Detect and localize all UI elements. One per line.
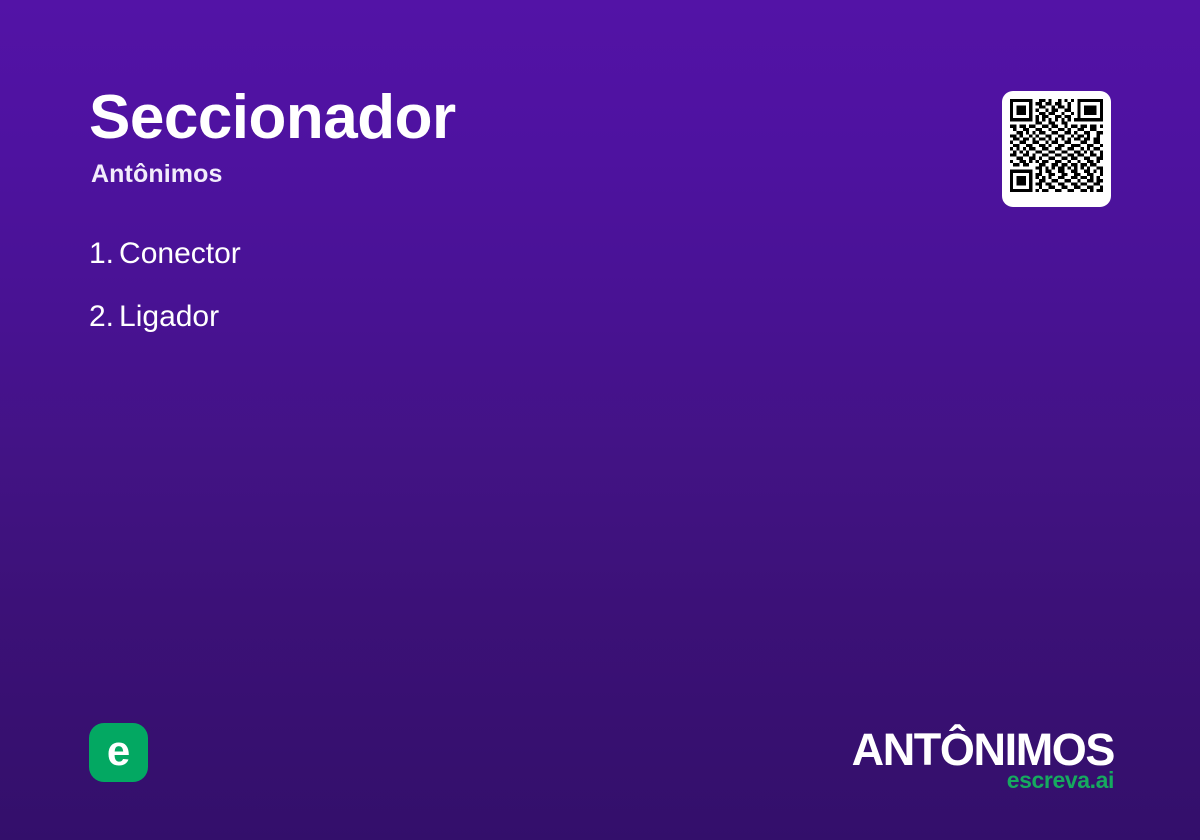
brand-wordmark: ANTÔNIMOS escreva.ai [852,728,1114,792]
list-item-index: 1. [89,237,114,270]
list-item: 1.Conector [89,236,909,272]
list-item-index: 2. [89,300,114,333]
brand-mark-glyph: e [107,730,130,772]
list-item-term: Conector [119,237,241,270]
list-item: 2.Ligador [89,299,909,335]
category-label: Antônimos [91,160,909,189]
antonyms-share-card: Seccionador Antônimos 1.Conector 2.Ligad… [0,0,1200,840]
list-item-term: Ligador [119,300,219,333]
page-title: Seccionador [89,86,909,150]
wordmark-primary: ANTÔNIMOS [852,728,1114,771]
antonyms-list: 1.Conector 2.Ligador [89,236,909,362]
qr-code-icon [1010,99,1103,192]
qr-code-card[interactable] [1002,91,1111,207]
escreva-logo-icon[interactable]: e [89,723,148,782]
headline-block: Seccionador Antônimos [89,86,909,189]
